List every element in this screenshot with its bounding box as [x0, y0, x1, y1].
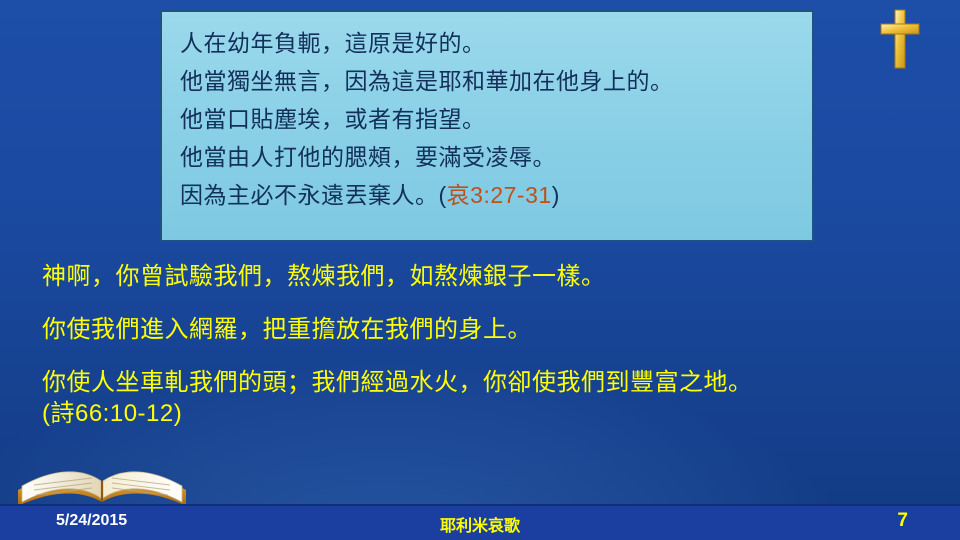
body-line-1: 神啊，你曾試驗我們，熬煉我們，如熬煉銀子一樣。 — [42, 262, 942, 292]
scripture-line-1: 人在幼年負軛，這原是好的。 — [180, 24, 798, 62]
scripture-line-4: 他當由人打他的腮頰，要滿受凌辱。 — [180, 138, 798, 176]
footer-bar: 5/24/2015 耶利米哀歌 7 — [0, 504, 960, 540]
cross-icon — [876, 8, 924, 70]
scripture-line-2: 他當獨坐無言，因為這是耶和華加在他身上的。 — [180, 62, 798, 100]
scripture-reference: 哀3:27-31 — [447, 182, 552, 208]
body-line-3: 你使人坐車軋我們的頭；我們經過水火，你卻使我們到豐富之地。 — [42, 368, 942, 398]
body-text-block: 神啊，你曾試驗我們，熬煉我們，如熬煉銀子一樣。 你使我們進入網羅，把重擔放在我們… — [42, 262, 942, 430]
body-reference: (詩66:10-12) — [42, 398, 942, 430]
body-line-2: 你使我們進入網羅，把重擔放在我們的身上。 — [42, 315, 942, 345]
scripture-box: 人在幼年負軛，這原是好的。 他當獨坐無言，因為這是耶和華加在他身上的。 他當口貼… — [160, 10, 814, 242]
scripture-line-5-suffix: ) — [552, 182, 560, 208]
footer-title: 耶利米哀歌 — [0, 512, 960, 536]
scripture-line-3: 他當口貼塵埃，或者有指望。 — [180, 100, 798, 138]
slide: 人在幼年負軛，這原是好的。 他當獨坐無言，因為這是耶和華加在他身上的。 他當口貼… — [0, 0, 960, 540]
scripture-line-5: 因為主必不永遠丟棄人。(哀3:27-31) — [180, 176, 798, 214]
scripture-line-5-prefix: 因為主必不永遠丟棄人。( — [180, 182, 447, 208]
footer-page-number: 7 — [897, 510, 908, 532]
